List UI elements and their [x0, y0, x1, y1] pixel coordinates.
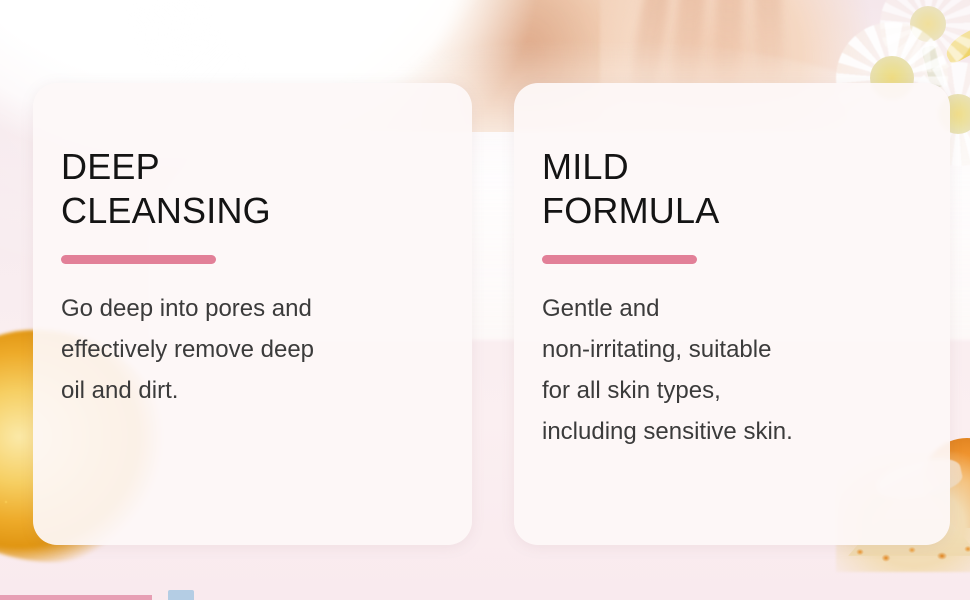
card-content: DEEP CLEANSING Go deep into pores and ef…: [61, 145, 448, 435]
infographic-canvas: DEEP CLEANSING Go deep into pores and ef…: [0, 0, 970, 600]
bottom-blue-fragment: [168, 590, 194, 600]
accent-underline: [542, 255, 697, 264]
orange-crumbs-decoration: [846, 540, 970, 574]
accent-underline: [61, 255, 216, 264]
feature-card-mild-formula[interactable]: MILD FORMULA Gentle and non-irritating, …: [514, 83, 950, 545]
card-description: Gentle and non-irritating, suitable for …: [542, 288, 926, 452]
feature-card-deep-cleansing[interactable]: DEEP CLEANSING Go deep into pores and ef…: [33, 83, 472, 545]
bottom-pink-bar: [0, 595, 152, 600]
card-title: DEEP CLEANSING: [61, 145, 448, 233]
card-title: MILD FORMULA: [542, 145, 926, 233]
card-content: MILD FORMULA Gentle and non-irritating, …: [542, 145, 926, 476]
card-description: Go deep into pores and effectively remov…: [61, 288, 448, 411]
